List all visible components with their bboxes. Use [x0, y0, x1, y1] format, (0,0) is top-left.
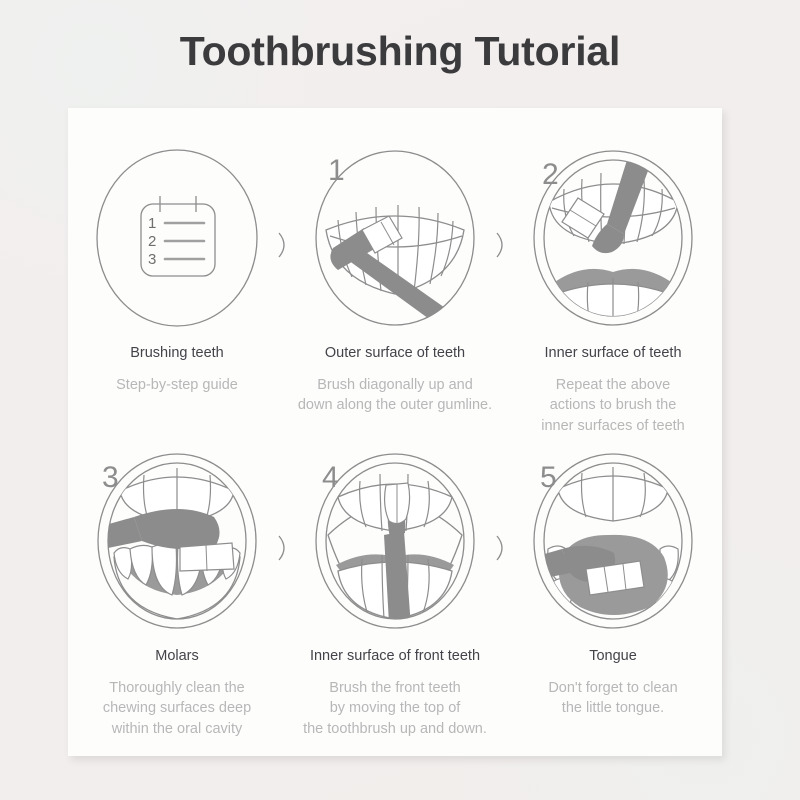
page-title: Toothbrushing Tutorial	[0, 28, 800, 75]
step-2: 1 Outer surface of teeth Brush diagonall…	[286, 142, 504, 416]
chevron-right-icon-3	[278, 535, 292, 561]
chevron-right-icon-2	[496, 232, 510, 258]
step-1-title: Brushing teeth	[68, 344, 286, 364]
step-3-illustration: 2	[504, 142, 722, 338]
step-2-title: Outer surface of teeth	[286, 344, 504, 364]
step-3-description: Repeat the above actions to brush the in…	[504, 375, 722, 437]
checklist-number-1: 1	[148, 215, 156, 232]
chevron-right-icon-4	[496, 535, 510, 561]
step-6-illustration: 5	[504, 445, 722, 641]
step-4-title: Molars	[68, 647, 286, 667]
step-1-description: Step-by-step guide	[68, 375, 286, 396]
step-5-illustration: 4	[286, 445, 504, 641]
step-5-description: Brush the front teeth by moving the top …	[286, 678, 504, 740]
tutorial-page: Toothbrushing Tutorial	[0, 0, 800, 800]
step-6: 5 Tongue Don't forget to clean the littl…	[504, 445, 722, 719]
step-4-description: Thoroughly clean the chewing surfaces de…	[68, 678, 286, 740]
step-5-title: Inner surface of front teeth	[286, 647, 504, 667]
steps-grid: 1 2 3 Brushing teeth Step-by-step guide	[68, 108, 722, 756]
checklist-number-2: 2	[148, 233, 156, 250]
checklist-number-3: 3	[148, 251, 156, 268]
step-1-illustration: 1 2 3	[68, 142, 286, 338]
step-2-badge: 1	[328, 154, 345, 187]
step-2-illustration: 1	[286, 142, 504, 338]
step-4-badge: 3	[102, 461, 119, 494]
step-3-title: Inner surface of teeth	[504, 344, 722, 364]
step-3: 2 Inner surface of teeth Repeat the abov…	[504, 142, 722, 436]
chevron-right-icon-1	[278, 232, 292, 258]
step-5: 4 Inner surface of front teeth Brush the…	[286, 445, 504, 739]
step-1: 1 2 3 Brushing teeth Step-by-step guide	[68, 142, 286, 395]
step-5-badge: 4	[322, 461, 339, 494]
step-6-title: Tongue	[504, 647, 722, 667]
step-6-description: Don't forget to clean the little tongue.	[504, 678, 722, 719]
step-4: 3 Molars Thoroughly clean the chewing su…	[68, 445, 286, 739]
step-2-description: Brush diagonally up and down along the o…	[286, 375, 504, 416]
step-3-badge: 2	[542, 158, 559, 191]
step-6-badge: 5	[540, 461, 557, 494]
step-4-illustration: 3	[68, 445, 286, 641]
tutorial-card: 1 2 3 Brushing teeth Step-by-step guide	[68, 108, 722, 756]
